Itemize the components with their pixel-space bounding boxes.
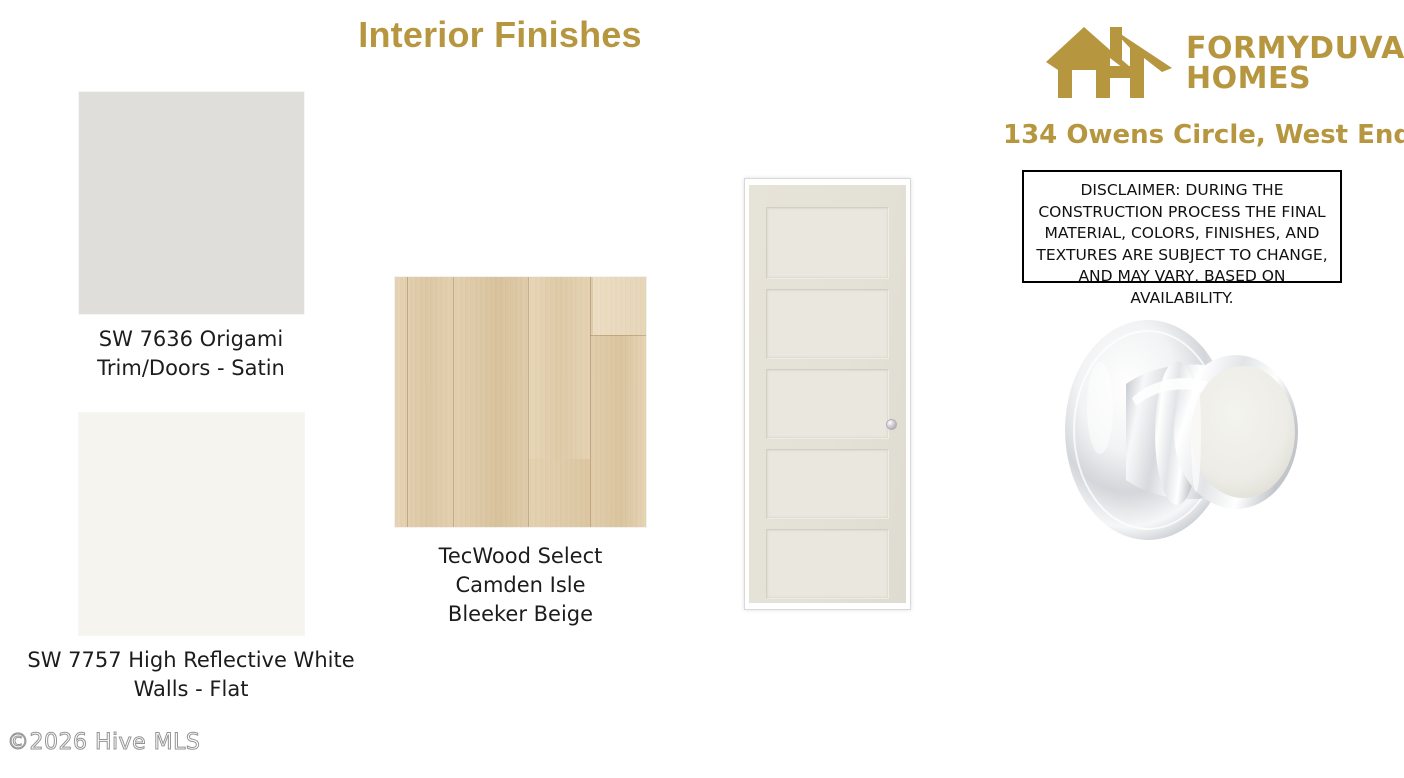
knob-face	[1191, 366, 1295, 498]
flooring-caption: TecWood Select Camden Isle Bleeker Beige	[395, 542, 646, 629]
paint-swatch-origami-caption: SW 7636 Origami Trim/Doors - Satin	[41, 325, 341, 383]
logo-row: FORMYDUVAL HOMES	[1000, 22, 1404, 105]
paint-swatch-high-reflective-white: SW 7757 High Reflective White Walls - Fl…	[79, 413, 304, 704]
door-panel	[766, 449, 889, 519]
page-title: Interior Finishes	[0, 14, 1000, 56]
brand-block: FORMYDUVAL HOMES 134 Owens Circle, West …	[1000, 22, 1404, 150]
door-panel	[766, 369, 889, 439]
paint-chip-origami	[79, 92, 304, 314]
door-panel	[766, 289, 889, 359]
door-panel	[766, 529, 889, 599]
interior-door-image	[744, 178, 911, 610]
door-panel	[766, 207, 889, 279]
brand-wordmark: FORMYDUVAL HOMES	[1186, 34, 1404, 94]
door-slab	[749, 185, 906, 603]
brand-address: 134 Owens Circle, West End, NC	[1003, 120, 1404, 150]
mls-watermark: ©2026 Hive MLS	[7, 730, 200, 755]
flooring-sample-image	[395, 277, 646, 527]
brand-name-line2: HOMES	[1186, 64, 1404, 94]
disclaimer-text: DISCLAIMER: DURING THE CONSTRUCTION PROC…	[1022, 180, 1342, 309]
paint-swatch-origami: SW 7636 Origami Trim/Doors - Satin	[79, 92, 304, 383]
wood-grain-texture	[395, 277, 646, 527]
flooring-sample-group: TecWood Select Camden Isle Bleeker Beige	[395, 277, 646, 629]
interior-finishes-board: Interior Finishes SW 7636 Origami Trim/D…	[0, 0, 1404, 778]
door-knob-icon	[886, 419, 897, 430]
formyduval-house-fh-logo-icon	[1044, 22, 1174, 105]
door-knob-hardware-image	[1040, 312, 1310, 552]
disclaimer-block: DISCLAIMER: DURING THE CONSTRUCTION PROC…	[1022, 170, 1342, 283]
paint-swatch-high-reflective-white-caption: SW 7757 High Reflective White Walls - Fl…	[11, 646, 371, 704]
paint-chip-high-reflective-white	[79, 413, 304, 635]
